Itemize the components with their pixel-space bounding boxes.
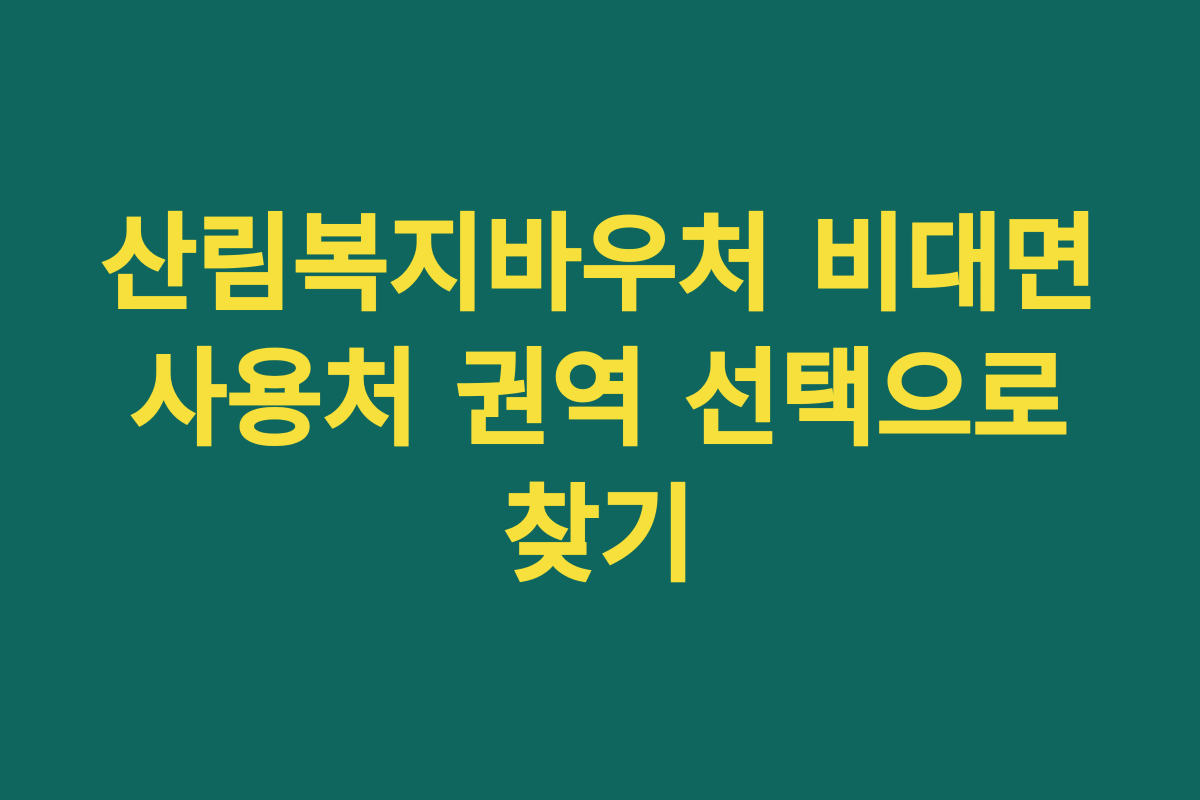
page-title: 산림복지바우처 비대면 사용처 권역 선택으로 찾기: [0, 197, 1200, 603]
title-card: 산림복지바우처 비대면 사용처 권역 선택으로 찾기: [0, 0, 1200, 800]
